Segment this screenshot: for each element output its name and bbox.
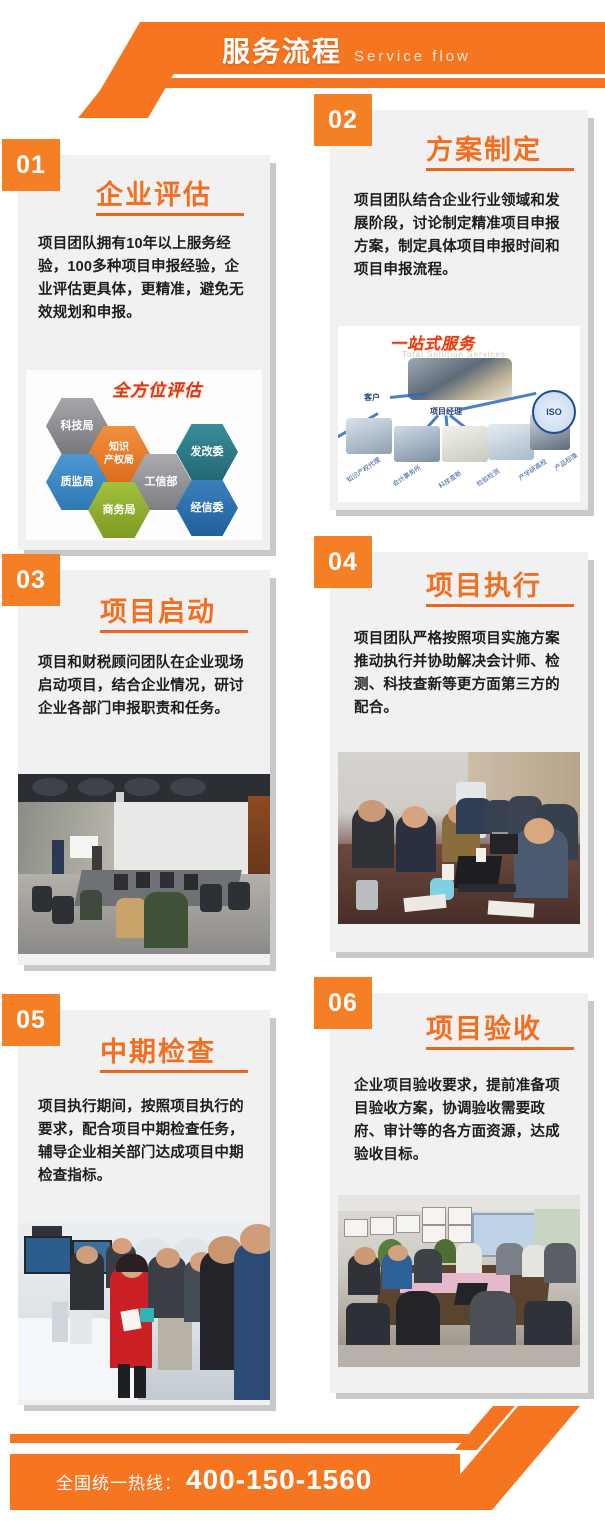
oss-node-testing xyxy=(488,424,534,460)
card-title-04: 项目执行 xyxy=(426,564,542,603)
hotline-number[interactable]: 400-150-1560 xyxy=(186,1464,372,1496)
oss-item-label-0: 知识产权代理 xyxy=(344,454,382,484)
page-header: 服务流程 Service flow xyxy=(0,0,605,118)
flow-card-02[interactable]: 02 方案制定 项目团队结合企业行业领域和发展阶段，讨论制定精准项目申报方案，制… xyxy=(330,110,588,510)
step-badge-05: 05 xyxy=(2,994,60,1046)
flow-card-05[interactable]: 05 中期检查 项目执行期间，按照项目执行的要求，配合项目中期检查任务，辅导企业… xyxy=(18,1010,270,1405)
hotline-label: 全国统一热线： xyxy=(56,1469,182,1494)
oss-item-label-3: 检验检测 xyxy=(474,465,501,488)
card-title-rule xyxy=(426,1047,574,1050)
oss-node-novelty xyxy=(442,426,488,462)
step-badge-01: 01 xyxy=(2,139,60,191)
card-title-01: 企业评估 xyxy=(96,173,212,212)
oss-node-accounting xyxy=(394,426,440,462)
flow-card-03[interactable]: 03 项目启动 项目和财税顾问团队在企业现场启动项目，结合企业情况，研讨企业各部… xyxy=(18,570,270,965)
card-title-03: 项目启动 xyxy=(100,590,216,629)
card-desc-03: 项目和财税顾问团队在企业现场启动项目，结合企业情况，研讨企业各部门申报职责和任务… xyxy=(38,652,252,721)
card-title-rule xyxy=(100,630,248,633)
service-flow-infographic: 服务流程 Service flow 01 企业评估 项目团队拥有10年以上服务经… xyxy=(0,0,605,1538)
page-title-cn: 服务流程 xyxy=(222,30,342,70)
flow-card-01[interactable]: 01 企业评估 项目团队拥有10年以上服务经验，100多种项目申报经验，企业评估… xyxy=(18,155,270,550)
card-desc-05: 项目执行期间，按照项目执行的要求，配合项目中期检查任务，辅导企业相关部门达成项目… xyxy=(38,1096,252,1188)
oss-node-ip xyxy=(346,418,392,454)
step-badge-03: 03 xyxy=(2,554,60,606)
flow-card-04[interactable]: 04 项目执行 项目团队严格按照项目实施方案推动执行并协助解决会计师、检测、科技… xyxy=(330,552,588,952)
oss-item-label-5: 产品标准 xyxy=(552,449,579,472)
oss-item-label-2: 科技查新 xyxy=(436,467,463,490)
footer-thin-bar xyxy=(10,1434,480,1443)
page-footer: 全国统一热线： 400-150-1560 xyxy=(0,1398,605,1538)
oss-item-label-1: 会计事务所 xyxy=(390,462,423,488)
card-title-02: 方案制定 xyxy=(426,128,542,167)
card-desc-02: 项目团队结合企业行业领域和发展阶段，讨论制定精准项目申报方案，制定具体项目申报时… xyxy=(354,190,568,282)
hotline: 全国统一热线： 400-150-1560 xyxy=(56,1464,372,1496)
card-title-06: 项目验收 xyxy=(426,1007,542,1046)
step-badge-04: 04 xyxy=(314,536,372,588)
page-title: 服务流程 Service flow xyxy=(222,30,471,70)
header-bar-thin xyxy=(108,78,605,88)
card-title-05: 中期检查 xyxy=(100,1030,216,1069)
card-title-rule xyxy=(426,168,574,171)
flow-card-06[interactable]: 06 项目验收 企业项目验收要求，提前准备项目验收方案，协调验收需要政府、审计等… xyxy=(330,993,588,1393)
hexagon-diagram-title: 全方位评估 xyxy=(112,376,202,401)
oss-client-label: 客户 xyxy=(364,392,380,403)
photo-acceptance-meeting xyxy=(338,1195,580,1367)
card-title-rule xyxy=(100,1070,248,1073)
card-desc-06: 企业项目验收要求，提前准备项目验收方案，协调验收需要政府、审计等的各方面资源，达… xyxy=(354,1075,570,1167)
hexagon-assessment-diagram: 全方位评估 科技局 知识产权局 质监局 工信部 商务局 发改委 经信委 xyxy=(26,370,262,540)
one-stop-service-diagram: 一站式服务 Total Solution Services 客户 项目经理 IS… xyxy=(338,326,580,502)
card-desc-01: 项目团队拥有10年以上服务经验，100多种项目申报经验，企业评估更具体，更精准，… xyxy=(38,233,250,325)
card-title-rule xyxy=(96,213,244,216)
photo-conference-room-kickoff xyxy=(18,774,270,954)
oss-iso-seal-icon: ISO xyxy=(532,390,576,434)
card-desc-04: 项目团队严格按照项目实施方案推动执行并协助解决会计师、检测、科技查新等更方面第三… xyxy=(354,628,570,720)
page-title-en: Service flow xyxy=(354,48,471,65)
photo-showroom-walkthrough xyxy=(18,1222,270,1400)
step-badge-02: 02 xyxy=(314,94,372,146)
photo-team-working-laptops xyxy=(338,752,580,924)
card-title-rule xyxy=(426,604,574,607)
step-badge-06: 06 xyxy=(314,977,372,1029)
